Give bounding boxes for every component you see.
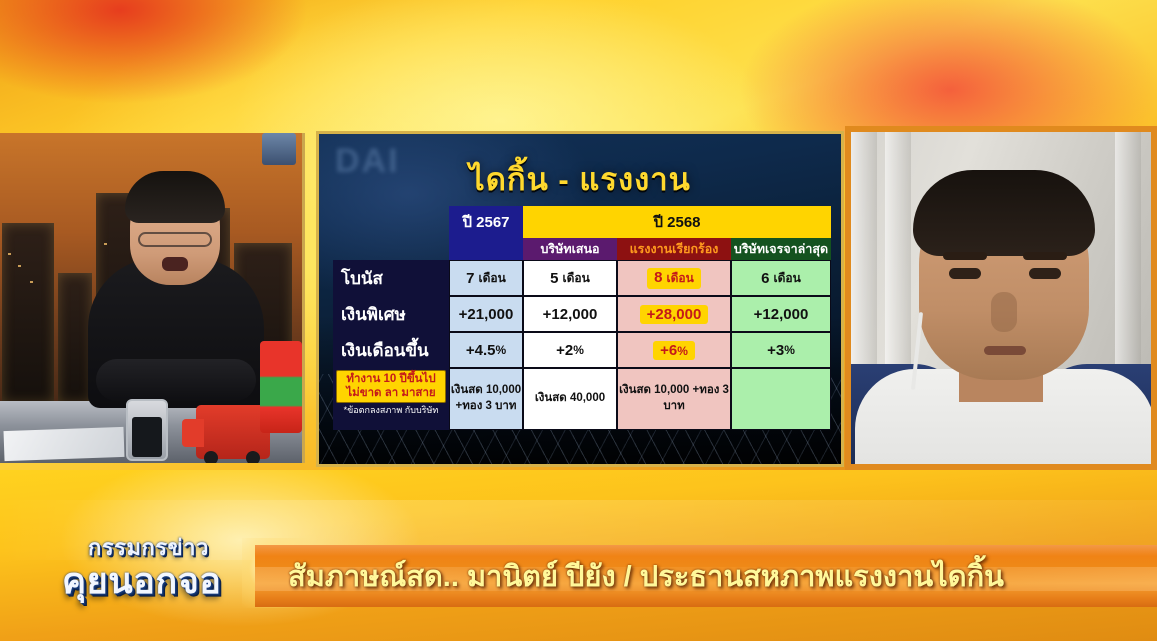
table-subheaders: บริษัทเสนอ แรงงานเรียกร้อง บริษัทเจรจาล่…: [333, 238, 833, 260]
cell-value: 8: [654, 269, 662, 286]
cell-unit: เดือน: [563, 269, 590, 288]
header-year-2567: ปี 2567: [449, 206, 523, 238]
header-year-2568: ปี 2568: [523, 206, 831, 238]
building-window: [8, 253, 11, 255]
anchor-crossed-arms: [96, 359, 256, 401]
cell-bonus-labor-demand: 8เดือน: [617, 260, 731, 296]
anchor-mouth: [162, 257, 188, 271]
row-label-special-payment: เงินพิเศษ: [333, 296, 449, 332]
panel-title: ไดกิ้น - แรงงาน: [319, 154, 841, 204]
row-label-seniority: ทำงาน 10 ปีขึ้นไป ไม่ขาด ลา มาสาย *ข้อตก…: [333, 368, 449, 430]
anchor-glasses: [138, 232, 212, 247]
table-row: เงินพิเศษ +21,000 +12,000 +28,000 +12,00…: [333, 296, 833, 332]
subheader-latest-negotiation: บริษัทเจรจาล่าสุด: [731, 238, 831, 260]
table-row: เงินเดือนขึ้น +4.5 % +2 % +6% +3 %: [333, 332, 833, 368]
cell-unit: %: [677, 344, 688, 358]
guest-nose: [991, 292, 1017, 332]
cell-salary-2567: +4.5 %: [449, 332, 523, 368]
cell-value: +2: [556, 342, 573, 359]
subheader-spacer: [333, 238, 449, 260]
highlighted-value: +28,000: [640, 305, 709, 324]
cell-value: +4.5: [466, 342, 496, 359]
cell-bonus-company-offer: 5 เดือน: [523, 260, 617, 296]
cell-seniority-2567: เงินสด 10,000 +ทอง 3 บาท: [449, 368, 523, 430]
guest-eye: [949, 268, 981, 279]
cell-bonus-latest-nego: 6 เดือน: [731, 260, 831, 296]
cell-special-company-offer: +12,000: [523, 296, 617, 332]
building-window: [104, 243, 107, 245]
cell-unit: %: [784, 343, 795, 357]
table-row: โบนัส 7 เดือน 5 เดือน 8เดือน 6 เดือน: [333, 260, 833, 296]
cell-value: +6: [660, 342, 677, 359]
guest-eye: [1029, 268, 1061, 279]
lower-third-ticker: สัมภาษณ์สด.. มานิตย์ ปียัง / ประธานสหภาพ…: [255, 545, 1157, 607]
cell-salary-latest-nego: +3 %: [731, 332, 831, 368]
guest-mouth: [984, 346, 1026, 355]
truck-wheel: [204, 451, 218, 463]
cell-unit: %: [573, 343, 584, 357]
program-logo: กรรมกรข่าว คุยนอกจอ: [62, 530, 277, 602]
cell-unit: เดือน: [479, 269, 506, 288]
cell-value: 7: [466, 270, 474, 287]
header-spacer: [333, 206, 449, 238]
table-row: ทำงาน 10 ปีขึ้นไป ไม่ขาด ลา มาสาย *ข้อตก…: [333, 368, 833, 430]
cell-unit: %: [495, 343, 506, 357]
news-anchor-video-feed[interactable]: [0, 133, 305, 463]
cell-special-2567: +21,000: [449, 296, 523, 332]
comparison-table: ปี 2567 ปี 2568 บริษัทเสนอ แรงงานเรียกร้…: [333, 206, 833, 430]
snack-package-prop: [260, 341, 302, 433]
cell-unit: เดือน: [667, 271, 694, 285]
subheader-2567-filler: [449, 238, 523, 260]
table-header-years: ปี 2567 ปี 2568: [333, 206, 833, 238]
seniority-badge: ทำงาน 10 ปีขึ้นไป ไม่ขาด ลา มาสาย: [336, 370, 446, 403]
highlighted-value: +6%: [653, 341, 695, 360]
guest-video-call-feed[interactable]: [845, 126, 1157, 470]
program-logo-line2: คุยนอกจอ: [62, 552, 221, 609]
cell-value: +3: [767, 342, 784, 359]
row-label-salary-increase: เงินเดือนขึ้น: [333, 332, 449, 368]
desk-smartphone: [126, 399, 168, 461]
backdrop-building: [2, 223, 54, 403]
cell-seniority-labor-demand: เงินสด 10,000 +ทอง 3 บาท: [617, 368, 731, 430]
cell-salary-company-offer: +2 %: [523, 332, 617, 368]
desk-papers: [4, 427, 125, 461]
cell-special-latest-nego: +12,000: [731, 296, 831, 332]
ticker-text: สัมภาษณ์สด.. มานิตย์ ปียัง / ประธานสหภาพ…: [255, 553, 1004, 599]
subheader-labor-demand: แรงงานเรียกร้อง: [617, 238, 731, 260]
building-window: [18, 265, 21, 267]
infographic-panel: DAI ไดกิ้น - แรงงาน ปี 2567 ปี 2568 บริษ…: [316, 131, 844, 467]
cell-value: 6: [761, 270, 769, 287]
truck-cab: [182, 419, 204, 447]
guest-eyebrow: [943, 252, 987, 260]
seniority-footnote: *ข้อตกลงสภาพ กับบริษัท: [344, 405, 439, 416]
cell-special-labor-demand: +28,000: [617, 296, 731, 332]
guest-hair: [913, 170, 1095, 256]
cell-bonus-2567: 7 เดือน: [449, 260, 523, 296]
backdrop-building: [58, 273, 92, 403]
cell-salary-labor-demand: +6%: [617, 332, 731, 368]
row-label-bonus: โบนัส: [333, 260, 449, 296]
subheader-company-offer: บริษัทเสนอ: [523, 238, 617, 260]
anchor-hair: [125, 171, 225, 223]
cell-unit: เดือน: [774, 269, 801, 288]
guest-eyebrow: [1023, 252, 1067, 260]
highlighted-value: 8เดือน: [647, 268, 701, 289]
truck-wheel: [246, 451, 260, 463]
building-window: [30, 281, 33, 283]
cell-value: 5: [550, 270, 558, 287]
smartphone-screen: [132, 417, 162, 457]
cell-seniority-latest-nego: [731, 368, 831, 430]
toy-delivery-truck: [196, 405, 270, 459]
studio-monitor: [262, 133, 296, 165]
cell-seniority-company-offer: เงินสด 40,000: [523, 368, 617, 430]
